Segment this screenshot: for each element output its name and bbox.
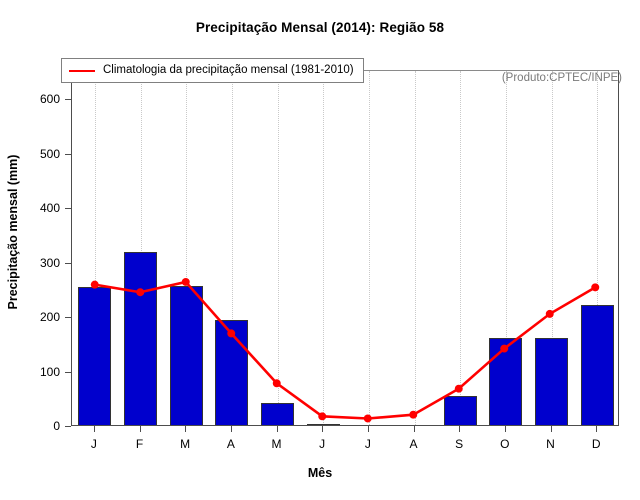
x-tick-mark bbox=[505, 426, 506, 432]
climatology-point-j-6 bbox=[364, 415, 372, 423]
climatology-line bbox=[95, 282, 596, 419]
x-tick-label-3: A bbox=[211, 438, 251, 450]
climatology-point-n-10 bbox=[546, 310, 554, 318]
climatology-point-m-4 bbox=[273, 379, 281, 387]
x-tick-label-10: N bbox=[531, 438, 571, 450]
chart-figure: Precipitação Mensal (2014): Região 58 Cl… bbox=[0, 0, 640, 500]
x-tick-mark bbox=[277, 426, 278, 432]
climatology-point-m-2 bbox=[182, 278, 190, 286]
x-tick-mark bbox=[596, 426, 597, 432]
line-series-layer bbox=[72, 71, 618, 425]
y-tick-label-100: 100 bbox=[20, 366, 60, 378]
climatology-point-o-9 bbox=[500, 345, 508, 353]
x-tick-label-5: J bbox=[302, 438, 342, 450]
y-tick-label-500: 500 bbox=[20, 148, 60, 160]
x-tick-mark bbox=[551, 426, 552, 432]
y-tick-label-600: 600 bbox=[20, 93, 60, 105]
x-tick-label-8: S bbox=[439, 438, 479, 450]
y-tick-label-200: 200 bbox=[20, 311, 60, 323]
climatology-point-f-1 bbox=[136, 288, 144, 296]
legend-label-climatologia: Climatologia da precipitação mensal (198… bbox=[103, 64, 354, 77]
x-tick-label-2: M bbox=[165, 438, 205, 450]
x-axis-title: Mês bbox=[0, 466, 640, 480]
y-axis-title: Precipitação mensal (mm) bbox=[6, 67, 20, 397]
climatology-point-a-7 bbox=[409, 411, 417, 419]
y-tick-mark bbox=[65, 426, 71, 427]
legend-line-swatch bbox=[69, 70, 95, 72]
y-tick-label-400: 400 bbox=[20, 202, 60, 214]
x-tick-label-11: D bbox=[576, 438, 616, 450]
x-tick-label-6: J bbox=[348, 438, 388, 450]
x-tick-label-1: F bbox=[120, 438, 160, 450]
x-tick-mark bbox=[231, 426, 232, 432]
x-tick-label-9: O bbox=[485, 438, 525, 450]
x-tick-mark bbox=[368, 426, 369, 432]
climatology-point-d-11 bbox=[591, 283, 599, 291]
x-tick-label-0: J bbox=[74, 438, 114, 450]
source-annotation: (Produto:CPTEC/INPE) bbox=[502, 72, 622, 84]
x-tick-mark bbox=[140, 426, 141, 432]
climatology-point-j-0 bbox=[91, 281, 99, 289]
y-tick-label-300: 300 bbox=[20, 257, 60, 269]
chart-legend: Climatologia da precipitação mensal (198… bbox=[61, 58, 364, 83]
x-tick-label-4: M bbox=[257, 438, 297, 450]
climatology-point-s-8 bbox=[455, 385, 463, 393]
x-tick-mark bbox=[322, 426, 323, 432]
x-tick-mark bbox=[459, 426, 460, 432]
x-tick-mark bbox=[185, 426, 186, 432]
y-tick-label-0: 0 bbox=[20, 420, 60, 432]
x-tick-mark bbox=[94, 426, 95, 432]
x-tick-mark bbox=[414, 426, 415, 432]
climatology-point-j-5 bbox=[318, 412, 326, 420]
climatology-point-a-3 bbox=[227, 329, 235, 337]
x-tick-label-7: A bbox=[394, 438, 434, 450]
chart-title: Precipitação Mensal (2014): Região 58 bbox=[0, 20, 640, 35]
plot-area bbox=[71, 70, 619, 426]
